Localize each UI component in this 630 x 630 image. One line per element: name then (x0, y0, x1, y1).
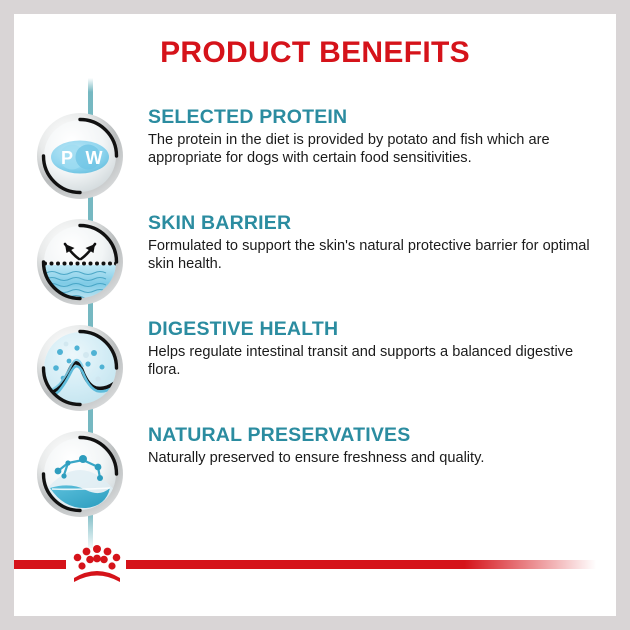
benefit-heading: SELECTED PROTEIN (148, 106, 598, 129)
poster-frame: PRODUCT BENEFITS (14, 14, 616, 616)
benefit-item-natural-preservatives: NATURAL PRESERVATIVES Naturally preserve… (26, 424, 606, 530)
benefit-text-block: NATURAL PRESERVATIVES Naturally preserve… (148, 424, 598, 467)
benefit-text-block: SELECTED PROTEIN The protein in the diet… (148, 106, 598, 168)
benefit-heading: NATURAL PRESERVATIVES (148, 424, 598, 447)
benefit-heading: DIGESTIVE HEALTH (148, 318, 598, 341)
skin-barrier-icon (36, 218, 124, 306)
benefit-item-digestive-health: DIGESTIVE HEALTH Helps regulate intestin… (26, 318, 606, 424)
benefit-body: The protein in the diet is provided by p… (148, 131, 598, 168)
benefit-item-selected-protein: P W SELECTED PROTEIN The protein in the … (26, 106, 606, 212)
benefit-item-skin-barrier: SKIN BARRIER Formulated to support the s… (26, 212, 606, 318)
digestive-health-icon (36, 324, 124, 412)
footer-bar (14, 538, 616, 588)
benefit-heading: SKIN BARRIER (148, 212, 598, 235)
benefit-body: Helps regulate intestinal transit and su… (148, 343, 598, 380)
benefit-text-block: SKIN BARRIER Formulated to support the s… (148, 212, 598, 274)
protein-letter-right: W (86, 148, 103, 168)
benefit-body: Formulated to support the skin's natural… (148, 237, 598, 274)
benefits-list: P W SELECTED PROTEIN The protein in the … (14, 14, 616, 616)
royal-canin-crown-logo (66, 542, 128, 586)
benefit-body: Naturally preserved to ensure freshness … (148, 449, 598, 467)
footer-rule-left (14, 560, 66, 569)
protein-venn-icon: P W (36, 112, 124, 200)
protein-letter-left: P (61, 148, 73, 168)
footer-rule-right (126, 560, 596, 569)
benefit-text-block: DIGESTIVE HEALTH Helps regulate intestin… (148, 318, 598, 380)
natural-preservatives-icon (36, 430, 124, 518)
